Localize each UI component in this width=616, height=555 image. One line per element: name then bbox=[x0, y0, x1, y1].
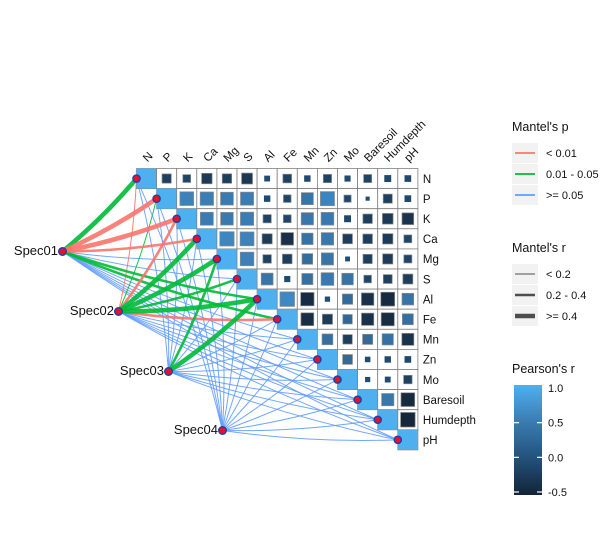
mantel-edge bbox=[63, 179, 137, 252]
matrix-cell-value bbox=[302, 233, 313, 244]
spec-label: Spec01 bbox=[14, 243, 58, 258]
matrix-cell-value bbox=[385, 377, 391, 383]
colorbar-tick-label: -0.5 bbox=[548, 487, 567, 499]
matrix-cell-value bbox=[403, 274, 413, 284]
matrix-cell-value bbox=[343, 355, 353, 365]
matrix-cell-value bbox=[363, 254, 372, 263]
column-label: Mn bbox=[302, 145, 322, 165]
matrix-cell-value bbox=[222, 174, 231, 183]
matrix-cell-value bbox=[280, 292, 295, 307]
mantel-edge bbox=[223, 420, 378, 431]
matrix-cell-value bbox=[383, 234, 393, 244]
matrix-cell-value bbox=[383, 275, 392, 284]
matrix-cell-value bbox=[343, 315, 352, 324]
matrix-cell-value bbox=[221, 192, 234, 205]
matrix-cell-value bbox=[322, 334, 333, 345]
matrix-cell-value bbox=[283, 174, 292, 183]
colorbar-tick-label: 0.5 bbox=[548, 418, 563, 430]
matrix-cell-value bbox=[301, 213, 313, 225]
variable-node[interactable] bbox=[314, 356, 321, 363]
matrix-cell-value bbox=[365, 357, 371, 363]
row-label: N bbox=[423, 174, 431, 186]
matrix-cell-value bbox=[365, 377, 370, 382]
matrix-cell-value bbox=[343, 335, 352, 344]
matrix-cell-value bbox=[264, 176, 270, 182]
mantel-edge bbox=[223, 431, 398, 441]
matrix-cell-value bbox=[183, 175, 191, 183]
legend-title-mantel-r: Mantel's r bbox=[512, 241, 566, 255]
matrix-cell-value bbox=[301, 313, 314, 326]
variable-node[interactable] bbox=[374, 416, 381, 423]
colorbar bbox=[514, 385, 542, 495]
variable-node[interactable] bbox=[153, 195, 160, 202]
matrix-cell-value bbox=[385, 356, 391, 362]
row-label: Mg bbox=[423, 254, 439, 266]
matrix-cell-value bbox=[220, 232, 234, 246]
matrix-cell-value bbox=[304, 175, 310, 181]
spec-label: Spec04 bbox=[174, 422, 218, 437]
matrix-cell-value bbox=[321, 233, 333, 245]
matrix-cell-value bbox=[282, 254, 292, 264]
column-label: S bbox=[242, 150, 256, 164]
matrix-cell-value bbox=[322, 314, 332, 324]
legends: Mantel's p< 0.010.01 - 0.05>= 0.05Mantel… bbox=[512, 120, 599, 499]
variable-node[interactable] bbox=[294, 336, 301, 343]
matrix-cell-value bbox=[384, 175, 391, 182]
spec-label: Spec03 bbox=[120, 363, 164, 378]
row-label: Baresoil bbox=[423, 395, 465, 407]
matrix-cell-value bbox=[283, 215, 291, 223]
matrix-cell-value bbox=[240, 212, 253, 225]
matrix-cell-value bbox=[200, 192, 213, 205]
matrix-cell-value bbox=[321, 212, 334, 225]
matrix-cell-value bbox=[382, 394, 394, 406]
matrix-cell-value bbox=[363, 334, 373, 344]
mantel-correlation-plot: NPKCaMgSAlFeMnZnMoBaresoilHumdepthpH NPK… bbox=[0, 0, 616, 555]
matrix-cell-value bbox=[404, 235, 412, 243]
matrix-cell-value bbox=[382, 213, 393, 224]
matrix-cell-value bbox=[263, 255, 271, 263]
matrix-cell-value bbox=[221, 212, 234, 225]
variable-node[interactable] bbox=[133, 175, 140, 182]
matrix-cell-value bbox=[264, 195, 270, 201]
matrix-cell-value bbox=[325, 297, 330, 302]
matrix-cell-value bbox=[364, 275, 372, 283]
legend-label-mantel-r: >= 0.4 bbox=[546, 311, 577, 323]
matrix-cell-value bbox=[342, 294, 352, 304]
variable-node[interactable] bbox=[354, 396, 361, 403]
matrix-cell-value bbox=[262, 234, 272, 244]
matrix-cell-value bbox=[162, 174, 171, 183]
spec-node[interactable] bbox=[115, 308, 123, 316]
legend-label-mantel-r: 0.2 - 0.4 bbox=[546, 290, 586, 302]
matrix-cell-value bbox=[301, 193, 313, 205]
matrix-cell-value bbox=[302, 254, 313, 265]
row-label: K bbox=[423, 214, 431, 226]
matrix-cell-value bbox=[345, 257, 350, 262]
column-label: Ca bbox=[201, 145, 220, 164]
colorbar-tick-label: 0.0 bbox=[548, 452, 563, 464]
legend-label-mantel-p: >= 0.05 bbox=[546, 190, 583, 202]
spec-node[interactable] bbox=[59, 248, 67, 256]
matrix-cell-value bbox=[405, 175, 412, 182]
matrix-cell-value bbox=[344, 195, 351, 202]
column-label: N bbox=[141, 150, 155, 164]
spec-node[interactable] bbox=[165, 368, 173, 376]
column-label: Mg bbox=[222, 145, 242, 165]
plot-canvas: NPKCaMgSAlFeMnZnMoBaresoilHumdepthpH NPK… bbox=[0, 0, 616, 555]
row-label: Fe bbox=[423, 314, 436, 326]
row-labels: NPKCaMgSAlFeMnZnMoBaresoilHumdepthpH bbox=[423, 174, 476, 447]
variable-node[interactable] bbox=[334, 376, 341, 383]
variable-node[interactable] bbox=[193, 235, 200, 242]
matrix-cell-value bbox=[381, 313, 394, 326]
matrix-cell-value bbox=[344, 175, 350, 181]
variable-node[interactable] bbox=[213, 255, 220, 262]
matrix-cell-value bbox=[401, 412, 416, 427]
matrix-cell-value bbox=[283, 195, 291, 203]
matrix-cell-value bbox=[362, 313, 374, 325]
column-labels: NPKCaMgSAlFeMnZnMoBaresoilHumdepthpH bbox=[141, 119, 428, 165]
matrix-cell-value bbox=[402, 213, 414, 225]
matrix-cell-value bbox=[321, 273, 334, 286]
matrix-cell-value bbox=[404, 375, 412, 383]
matrix-cell-value bbox=[284, 276, 290, 282]
mantel-edge bbox=[223, 380, 338, 431]
column-label: Al bbox=[262, 149, 278, 165]
matrix-cell-value bbox=[343, 234, 353, 244]
row-label: P bbox=[423, 194, 431, 206]
matrix-cell-value bbox=[323, 174, 331, 182]
variable-node[interactable] bbox=[233, 275, 240, 282]
matrix-cell-value bbox=[200, 212, 213, 225]
matrix-cell-value bbox=[363, 234, 373, 244]
legend-label-mantel-p: 0.01 - 0.05 bbox=[546, 169, 599, 181]
matrix-cell-value bbox=[242, 173, 253, 184]
matrix-cell-value bbox=[342, 273, 354, 285]
matrix-cell-value bbox=[261, 273, 273, 285]
matrix-cell-value bbox=[241, 192, 254, 205]
matrix-cell-value bbox=[302, 274, 313, 285]
matrix-cell-value bbox=[402, 293, 414, 305]
column-label: Fe bbox=[282, 147, 300, 165]
colorbar-tick-label: 1.0 bbox=[548, 383, 563, 395]
matrix-cell-value bbox=[240, 232, 254, 246]
matrix-cell-value bbox=[401, 393, 415, 407]
matrix-cell-value bbox=[402, 314, 413, 325]
matrix-cell-value bbox=[381, 292, 395, 306]
column-label: Mo bbox=[342, 145, 362, 165]
matrix-cell-value bbox=[363, 214, 372, 223]
variable-node[interactable] bbox=[274, 316, 281, 323]
matrix-cell-value bbox=[405, 356, 412, 363]
matrix-cell-value bbox=[263, 215, 271, 223]
matrix-cell-value bbox=[240, 252, 254, 266]
row-label: Mo bbox=[423, 375, 439, 387]
legend-title-pearson-r: Pearson's r bbox=[512, 362, 575, 376]
matrix-cell-value bbox=[383, 254, 393, 264]
row-label: pH bbox=[423, 435, 438, 447]
variable-node[interactable] bbox=[394, 436, 401, 443]
matrix-cell-value bbox=[202, 173, 212, 183]
row-label: Zn bbox=[423, 355, 436, 367]
row-label: Al bbox=[423, 294, 433, 306]
column-label: K bbox=[181, 150, 195, 164]
matrix-cell-value bbox=[404, 255, 412, 263]
matrix-cell-value bbox=[366, 197, 370, 201]
row-label: Mn bbox=[423, 335, 439, 347]
matrix-cell-value bbox=[405, 195, 412, 202]
legend-label-mantel-p: < 0.01 bbox=[546, 148, 577, 160]
column-label: P bbox=[161, 150, 175, 164]
column-label: Zn bbox=[322, 147, 340, 165]
matrix-cell-value bbox=[402, 333, 414, 345]
spec-node[interactable] bbox=[219, 427, 227, 435]
matrix-cell-value bbox=[281, 233, 294, 246]
spec-label: Spec02 bbox=[70, 303, 114, 318]
legend-label-mantel-r: < 0.2 bbox=[546, 269, 571, 281]
matrix-cell-value bbox=[383, 194, 392, 203]
matrix-cell-value bbox=[364, 175, 372, 183]
matrix-cell-value bbox=[180, 192, 194, 206]
matrix-cell-value bbox=[382, 334, 393, 345]
variable-node[interactable] bbox=[254, 296, 261, 303]
matrix-cell-value bbox=[321, 253, 333, 265]
row-label: Ca bbox=[423, 234, 438, 246]
matrix-cell-value bbox=[320, 192, 334, 206]
variable-node[interactable] bbox=[173, 215, 180, 222]
matrix-cell-value bbox=[361, 293, 373, 305]
row-label: S bbox=[423, 274, 431, 286]
matrix-cell-value bbox=[344, 215, 351, 222]
legend-title-mantel-p: Mantel's p bbox=[512, 120, 569, 134]
row-label: Humdepth bbox=[423, 415, 476, 427]
matrix-cell-value bbox=[301, 292, 314, 305]
